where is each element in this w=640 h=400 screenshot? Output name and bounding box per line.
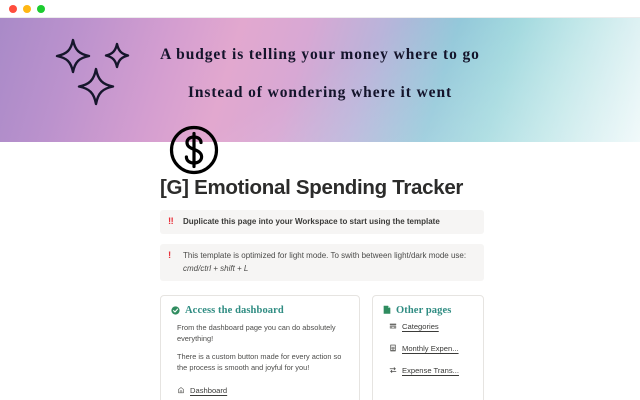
card-access-dashboard-header: Access the dashboard (171, 305, 349, 316)
window-titlebar (0, 0, 640, 18)
close-button[interactable] (9, 5, 17, 13)
maximize-button[interactable] (37, 5, 45, 13)
card-paragraph: There is a custom button made for every … (177, 351, 349, 373)
dashboard-icon (177, 386, 185, 394)
cover-headline-line1: A budget is telling your money where to … (0, 46, 640, 64)
page-icon (383, 305, 391, 315)
calculator-icon (389, 344, 397, 352)
link-categories[interactable]: Categories (389, 322, 473, 331)
card-paragraph: From the dashboard page you can do absol… (177, 322, 349, 344)
page-content: [G] Emotional Spending Tracker ‼ Duplica… (0, 142, 640, 400)
card-other-pages-title: Other pages (396, 305, 451, 316)
callout-light-mode: ! This template is optimized for light m… (160, 244, 484, 281)
link-expense-transactions[interactable]: Expense Trans... (389, 366, 473, 375)
card-access-dashboard: Access the dashboard From the dashboard … (160, 295, 360, 400)
page-canvas: A budget is telling your money where to … (0, 18, 640, 400)
link-categories-label: Categories (402, 322, 439, 331)
link-dashboard[interactable]: Dashboard (177, 386, 349, 395)
page-title: [G] Emotional Spending Tracker (160, 176, 484, 200)
callout-light-mode-text: This template is optimized for light mod… (183, 251, 466, 260)
card-row: Access the dashboard From the dashboard … (160, 295, 484, 400)
cover-headline-line2: Instead of wondering where it went (0, 84, 640, 102)
transfer-arrows-icon (389, 366, 397, 374)
link-monthly-expenses-label: Monthly Expen... (402, 344, 459, 353)
cover-headline: A budget is telling your money where to … (0, 46, 640, 102)
callout-duplicate-text: Duplicate this page into your Workspace … (183, 216, 476, 228)
check-circle-icon (171, 306, 180, 315)
link-expense-transactions-label: Expense Trans... (402, 366, 459, 375)
card-other-pages-header: Other pages (383, 305, 473, 316)
exclamation-icon: ! (168, 250, 183, 262)
archive-drawer-icon (389, 322, 397, 330)
card-access-dashboard-title: Access the dashboard (185, 305, 284, 316)
card-other-pages: Other pages Categories (372, 295, 484, 400)
double-exclamation-icon: ‼ (168, 216, 183, 228)
link-monthly-expenses[interactable]: Monthly Expen... (389, 344, 473, 353)
cover-banner: A budget is telling your money where to … (0, 18, 640, 142)
callout-light-mode-body: This template is optimized for light mod… (183, 250, 476, 275)
minimize-button[interactable] (23, 5, 31, 13)
callout-duplicate: ‼ Duplicate this page into your Workspac… (160, 210, 484, 234)
link-dashboard-label: Dashboard (190, 386, 227, 395)
callout-shortcut: cmd/ctrl + shift + L (183, 263, 476, 275)
